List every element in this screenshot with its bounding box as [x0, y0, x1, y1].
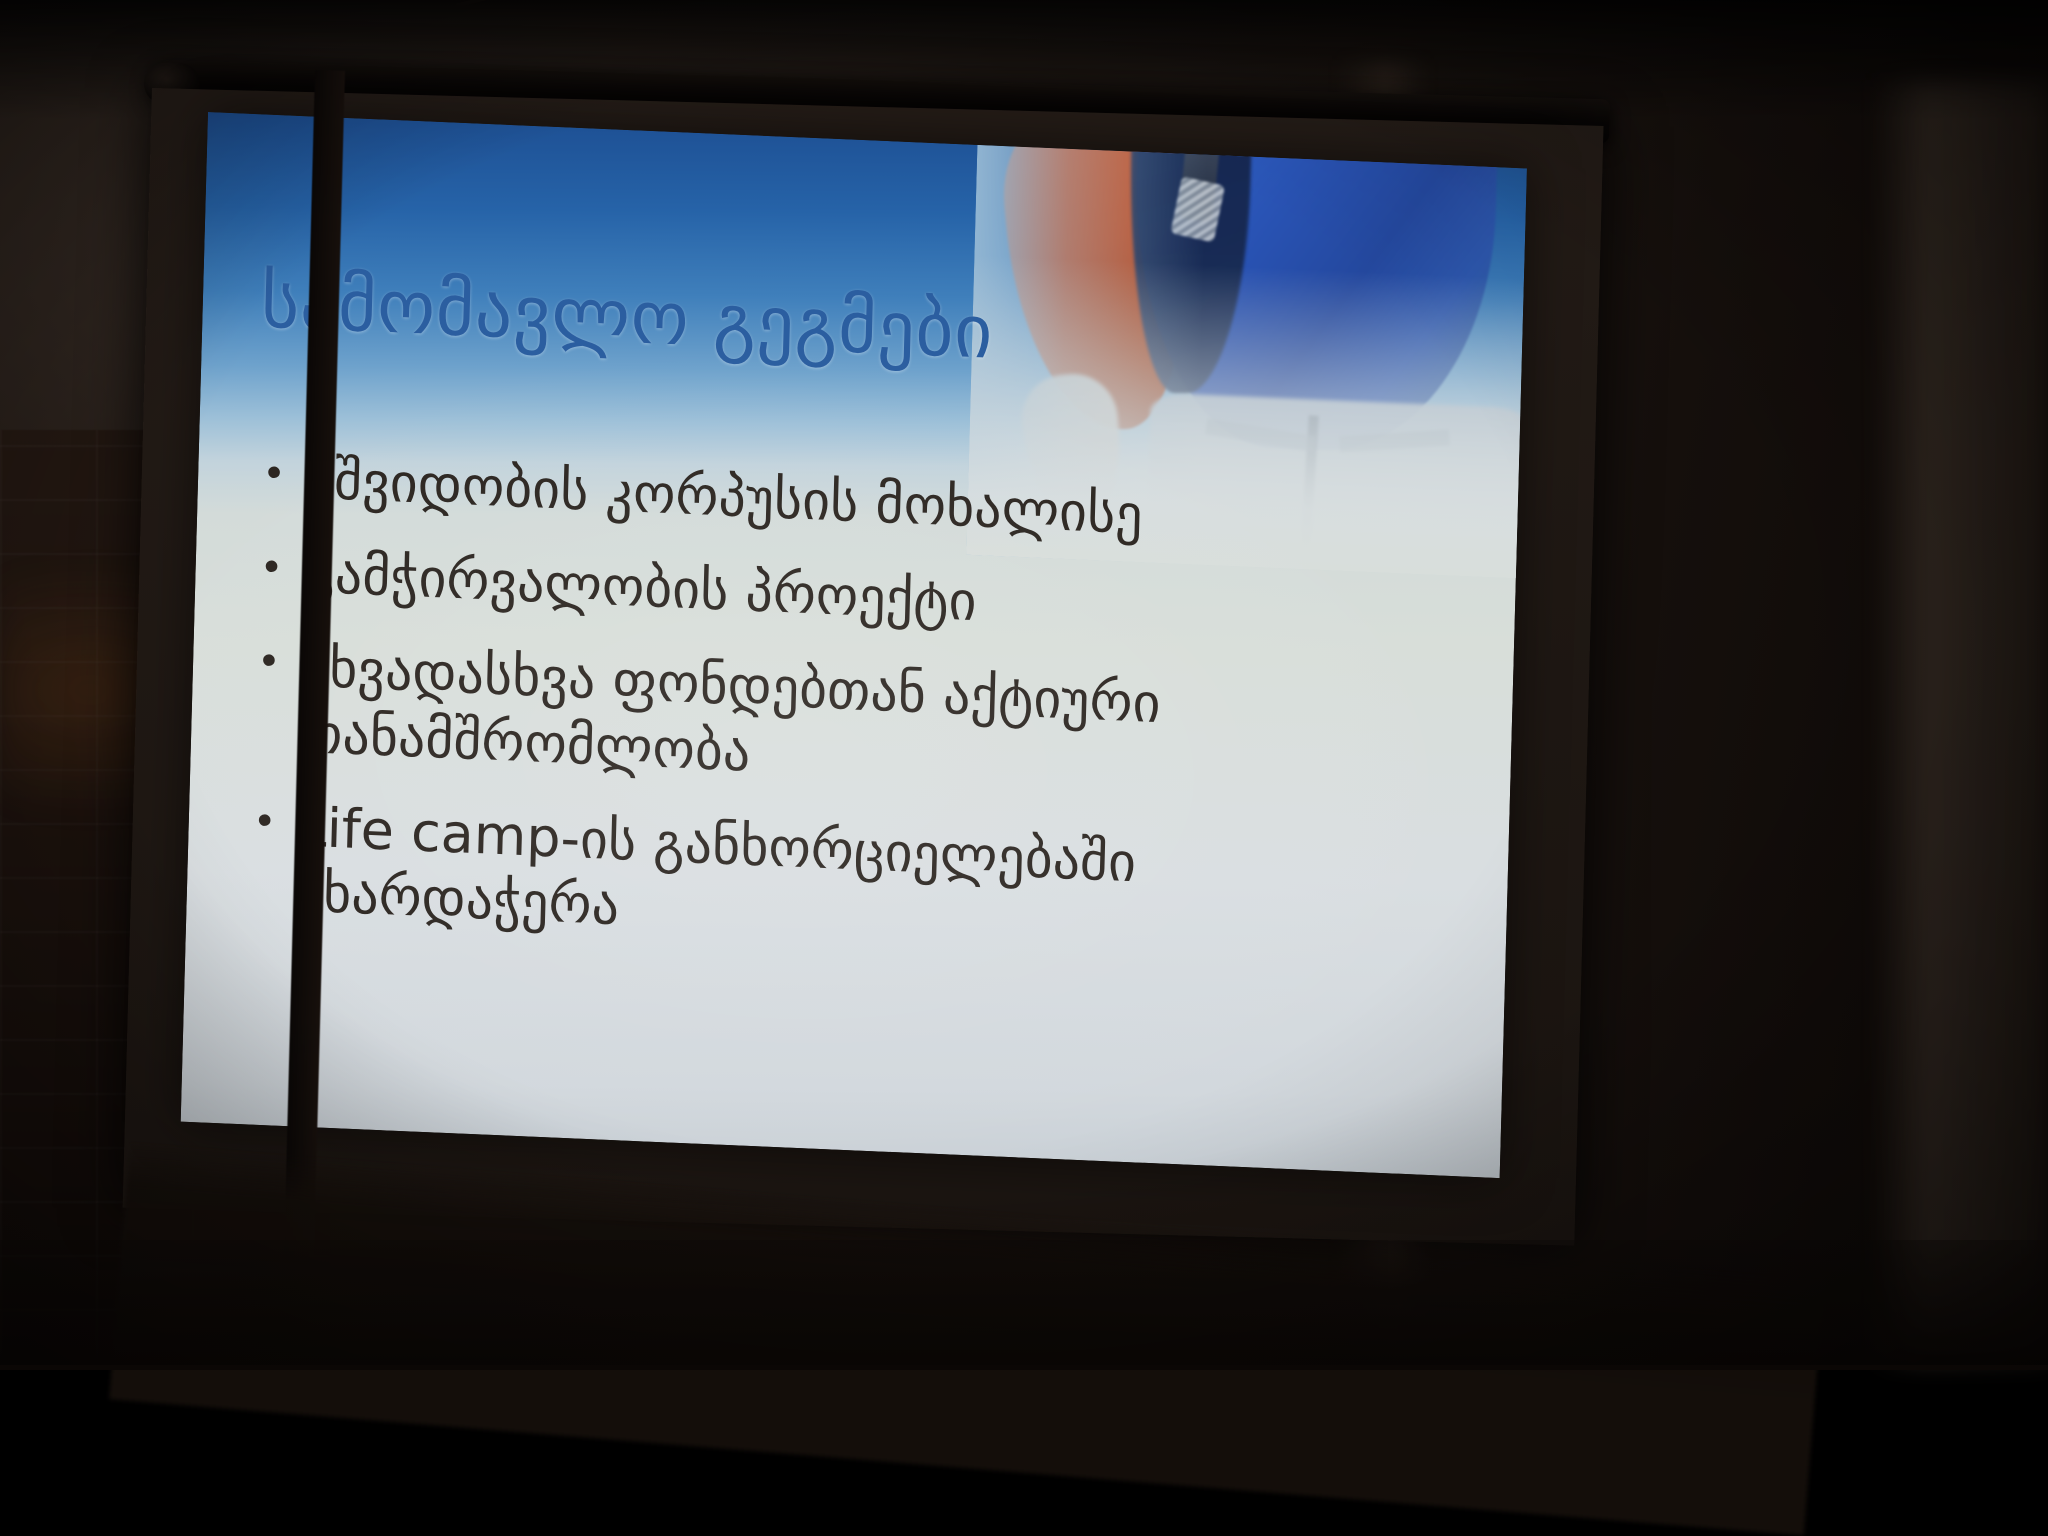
slide-bullet-item: • გამჭირვალობის პროექტი	[259, 538, 1470, 656]
slide-bullet-item: • Life camp-ის განხორციელებაში მხარდაჭერ…	[250, 792, 1463, 975]
foreground-shadow	[0, 1240, 2048, 1370]
slide-bullet-item: • სხვადასხვა ფონდებთან აქტიური თანამშრომ…	[254, 632, 1467, 815]
slide-canvas: სამომავლო გეგმები • მშვიდობის კორპუსის მ…	[181, 112, 1527, 1178]
slide-title: სამომავლო გეგმები	[260, 264, 994, 369]
projected-slide-area: სამომავლო გეგმები • მშვიდობის კორპუსის მ…	[181, 112, 1527, 1178]
bullet-marker-icon: •	[252, 792, 298, 852]
slide-bullet-list: • მშვიდობის კორპუსის მოხალისე • გამჭირვა…	[249, 445, 1472, 1004]
right-wall-highlight	[1873, 80, 2048, 1365]
bullet-marker-icon: •	[256, 632, 302, 692]
bullet-text: გამჭირვალობის პროექტი	[303, 540, 1470, 656]
bullet-text: სხვადასხვა ფონდებთან აქტიური თანამშრომლო…	[298, 634, 1467, 816]
bullet-text: Life camp-ის განხორციელებაში მხარდაჭერა	[294, 794, 1463, 976]
bullet-marker-icon: •	[259, 538, 305, 598]
bullet-marker-icon: •	[261, 445, 307, 505]
